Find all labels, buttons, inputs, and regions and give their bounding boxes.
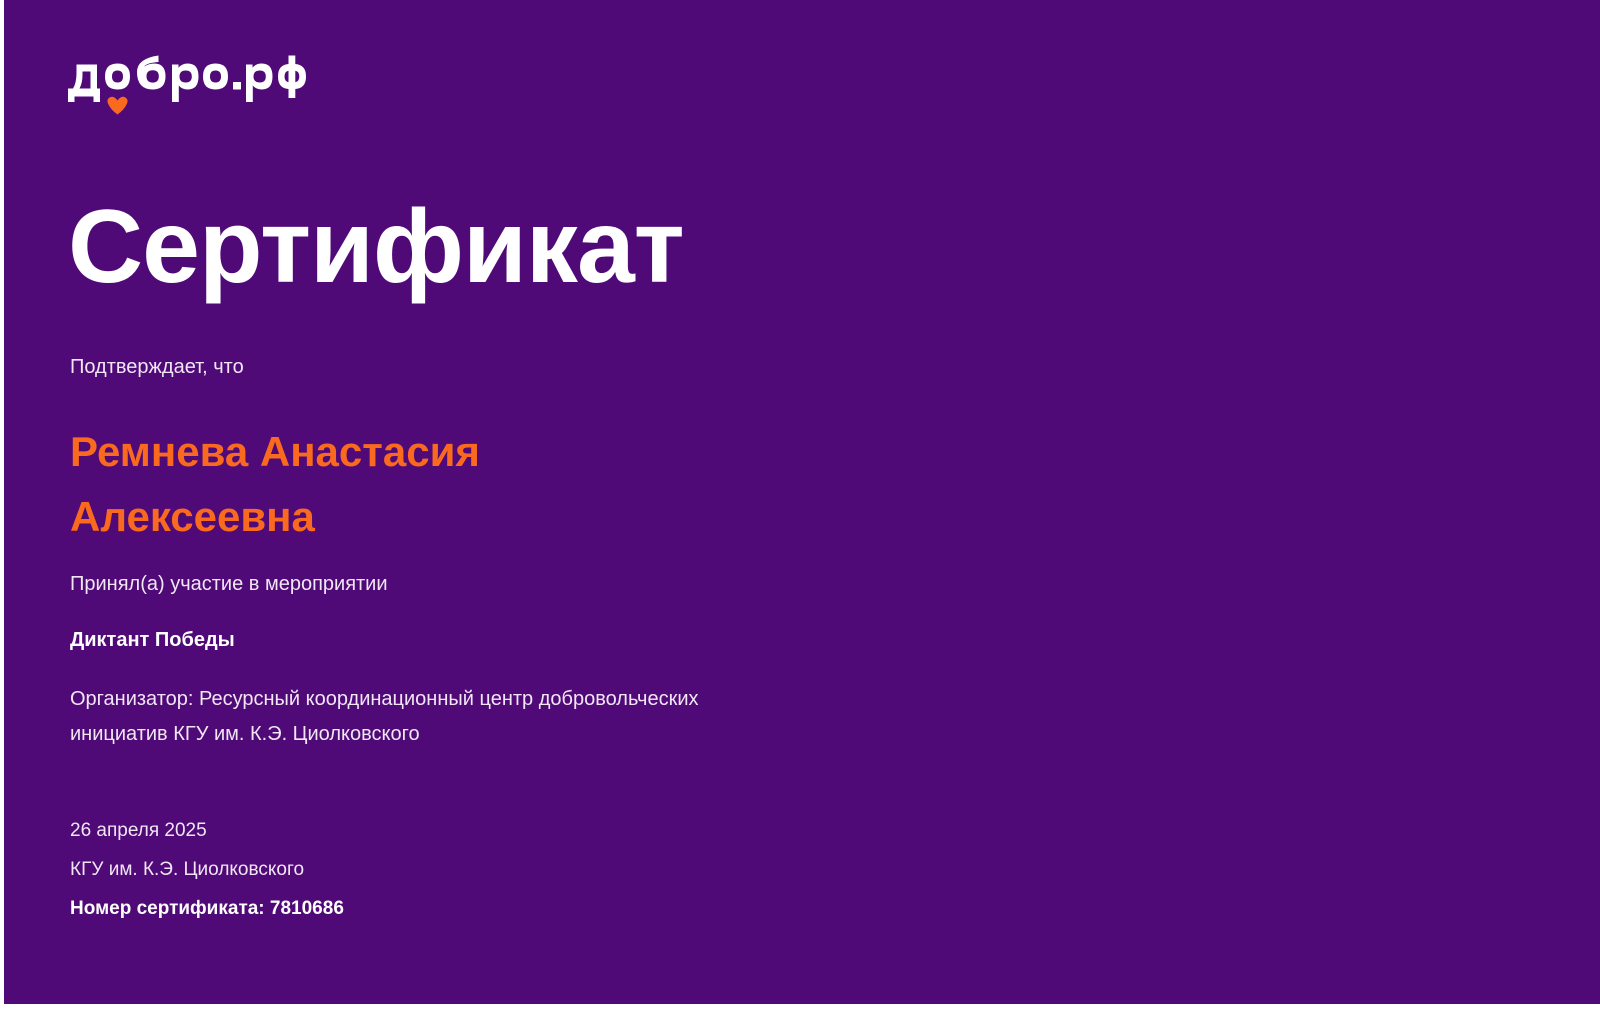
issuer-name: КГУ им. К.Э. Циолковского bbox=[70, 851, 770, 890]
heart-icon bbox=[107, 97, 127, 115]
certificate-panel: Сертификат Подтверждает, что Ремнева Ана… bbox=[4, 0, 1600, 1004]
recipient-name: Ремнева Анастасия Алексеевна bbox=[70, 419, 630, 549]
certificate-body: Подтверждает, что Ремнева Анастасия Алек… bbox=[70, 354, 890, 751]
page-title: Сертификат bbox=[68, 193, 684, 301]
organizer-text: Организатор: Ресурсный координационный ц… bbox=[70, 682, 800, 751]
event-name: Диктант Победы bbox=[70, 627, 890, 654]
certificate-footer: 26 апреля 2025 КГУ им. К.Э. Циолковского… bbox=[70, 812, 770, 929]
participation-label: Принял(а) участие в мероприятии bbox=[70, 571, 890, 598]
certificate-page: Сертификат Подтверждает, что Ремнева Ана… bbox=[0, 0, 1600, 1012]
certificate-number: Номер сертификата: 7810686 bbox=[70, 890, 770, 929]
dobro-rf-logo bbox=[66, 55, 306, 117]
confirm-label: Подтверждает, что bbox=[70, 354, 890, 381]
issue-date: 26 апреля 2025 bbox=[70, 812, 770, 851]
